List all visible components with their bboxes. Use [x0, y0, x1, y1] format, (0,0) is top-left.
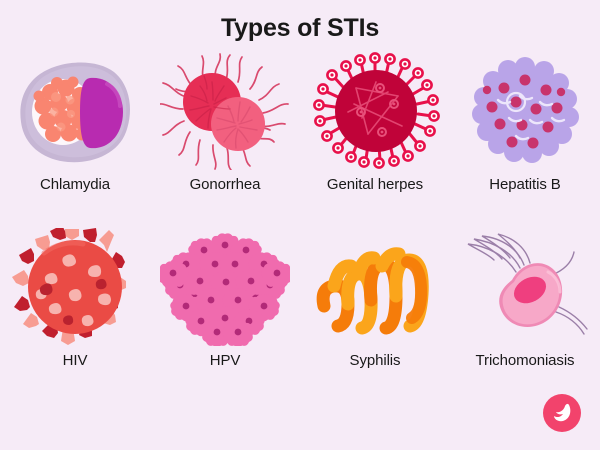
sti-label-hpv: HPV	[210, 352, 241, 369]
trichomonas-parasite-illustration	[460, 228, 590, 346]
sti-row-2: HIV	[0, 228, 600, 369]
sti-item-chlamydia: Chlamydia	[0, 52, 150, 193]
sti-label-syphilis: Syphilis	[350, 352, 401, 369]
herpes-virion-illustration	[310, 52, 440, 170]
hepatitis-b-virion-illustration	[460, 52, 590, 170]
sti-item-hepatitis-b: Hepatitis B	[450, 52, 600, 193]
infographic-canvas: Types of STIs	[0, 0, 600, 450]
hiv-virion-illustration	[10, 228, 140, 346]
sti-item-hpv: HPV	[150, 228, 300, 369]
sti-row-1: Chlamydia	[0, 52, 600, 193]
chlamydia-cell-illustration	[10, 52, 140, 170]
sti-label-hepatitis-b: Hepatitis B	[489, 176, 560, 193]
sti-item-hiv: HIV	[0, 228, 150, 369]
sti-label-gonorrhea: Gonorrhea	[190, 176, 261, 193]
sti-label-chlamydia: Chlamydia	[40, 176, 110, 193]
brand-petal-logo[interactable]	[543, 394, 581, 432]
syphilis-spirochete-illustration	[310, 228, 440, 346]
hpv-virion-illustration	[160, 228, 290, 346]
sti-item-syphilis: Syphilis	[300, 228, 450, 369]
sti-label-hiv: HIV	[63, 352, 88, 369]
sti-item-genital-herpes: Genital herpes	[300, 52, 450, 193]
sti-label-trichomoniasis: Trichomoniasis	[476, 352, 575, 369]
sti-item-gonorrhea: Gonorrhea	[150, 52, 300, 193]
sti-item-trichomoniasis: Trichomoniasis	[450, 228, 600, 369]
gonorrhea-diplococci-illustration	[160, 52, 290, 170]
sti-label-genital-herpes: Genital herpes	[327, 176, 423, 193]
page-title: Types of STIs	[0, 14, 600, 43]
